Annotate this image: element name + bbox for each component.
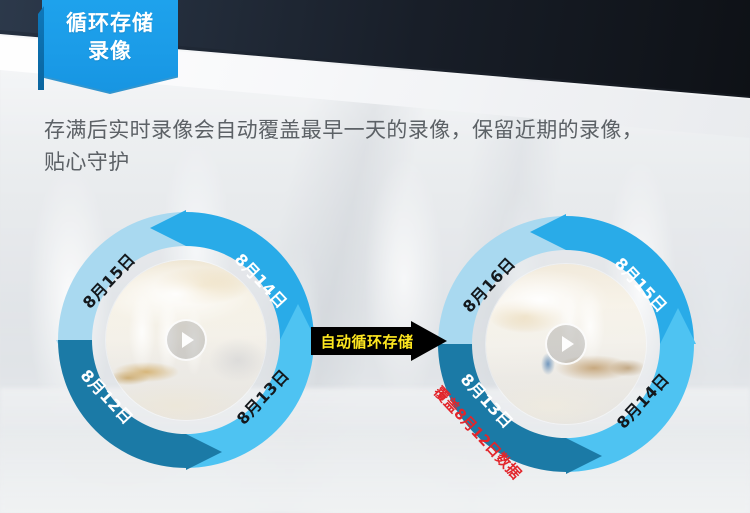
play-triangle — [562, 336, 574, 352]
promo-stage: 循环存储 录像 存满后实时录像会自动覆盖最早一天的录像，保留近期的录像，贴心守护 — [0, 0, 750, 513]
badge-fold — [38, 6, 44, 90]
section-badge: 循环存储 录像 — [38, 0, 186, 100]
play-icon[interactable] — [545, 323, 587, 365]
auto-cycle-arrow: 自动循环存储 — [311, 321, 447, 361]
section-description: 存满后实时录像会自动覆盖最早一天的录像，保留近期的录像，贴心守护 — [44, 114, 644, 178]
video-thumbnail-after[interactable] — [486, 264, 646, 424]
badge-title-line2: 录像 — [88, 37, 132, 65]
badge-title-line1: 循环存储 — [66, 9, 154, 37]
play-triangle — [182, 332, 194, 348]
badge-body: 循环存储 录像 — [42, 0, 178, 92]
video-thumbnail-before[interactable] — [106, 260, 266, 420]
cycle-diagram-before: 8月15日 8月14日 8月13日 8月12日 — [52, 206, 320, 474]
arrow-label: 自动循环存储 — [319, 321, 415, 361]
cycle-diagram-after: 8月16日 8月15日 8月14日 8月13日 覆盖8月12日数据 — [432, 210, 700, 478]
play-icon[interactable] — [165, 319, 207, 361]
